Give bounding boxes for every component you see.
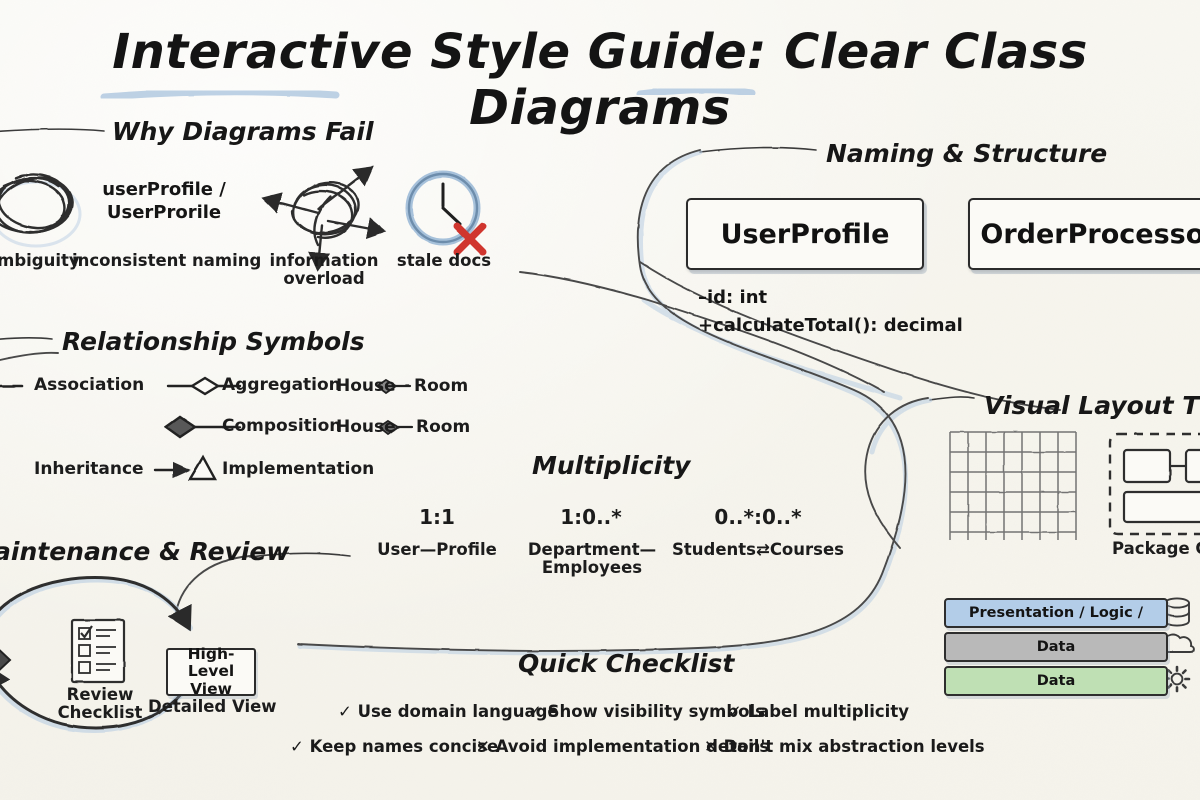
- why-fail-label-2: informationoverload: [258, 252, 390, 289]
- relationship-label-inheritance: Inheritance: [34, 460, 144, 479]
- package-grouping-caption: Package Gro: [1112, 540, 1200, 558]
- why-fail-label-3: stale docs: [388, 252, 500, 270]
- section-header-relationship-symbols: Relationship Symbols: [62, 328, 365, 356]
- naming-sample-line1: userProfile /: [102, 179, 226, 200]
- class-member-field: –id: int: [698, 288, 767, 308]
- layer-bar-data-green[interactable]: Data: [944, 666, 1168, 696]
- multiplicity-ratio-0: 1:1: [378, 506, 496, 528]
- section-header-naming-structure: Naming & Structure: [826, 140, 1107, 168]
- example-house-left: House: [336, 376, 396, 396]
- checklist-text-2: Label multiplicity: [748, 702, 909, 721]
- class-box-orderprocessor[interactable]: OrderProcessor: [968, 198, 1200, 270]
- high-level-view-box[interactable]: High-LevelView: [166, 648, 256, 696]
- section-header-visual-layout-tips: Visual Layout Tips: [984, 392, 1200, 420]
- checklist-item-3[interactable]: ✓ Keep names concise: [290, 738, 498, 756]
- relationship-label-aggregation: Aggregation: [222, 376, 341, 395]
- checklist-mark-5: ✕: [704, 737, 718, 756]
- multiplicity-relation-2: Students⇄Courses: [672, 541, 844, 559]
- checklist-mark-3: ✓: [290, 737, 304, 756]
- checklist-icon: [72, 620, 124, 682]
- multiplicity-ratio-2: 0..*:0..*: [692, 506, 824, 528]
- why-fail-label-1: inconsistent naming: [72, 252, 256, 270]
- layer-bar-presentation[interactable]: Presentation / Logic /: [944, 598, 1168, 628]
- layer-bar-data-green-label: Data: [1037, 673, 1076, 689]
- checklist-text-3: Keep names concise: [310, 737, 499, 756]
- why-fail-label-0: ambiguity: [0, 252, 76, 270]
- class-box-userprofile[interactable]: UserProfile: [686, 198, 924, 270]
- layer-bar-presentation-label: Presentation / Logic /: [969, 605, 1143, 621]
- class-box-userprofile-label: UserProfile: [721, 219, 890, 250]
- naming-sample-line2: UserProrile: [107, 202, 221, 223]
- relationship-example-aggregation-right: Room: [414, 377, 468, 396]
- checklist-item-2[interactable]: ✓ Label multiplicity: [728, 703, 909, 721]
- checklist-item-0[interactable]: ✓ Use domain language: [338, 703, 559, 721]
- checklist-text-5: Don't mix abstraction levels: [724, 737, 985, 756]
- review-checklist-label: ReviewChecklist: [52, 686, 148, 723]
- high-level-view-box-label: High-LevelView: [168, 646, 254, 698]
- relationship-example-aggregation: House: [336, 377, 396, 396]
- checklist-mark-0: ✓: [338, 702, 352, 721]
- relationship-label-implementation: Implementation: [222, 460, 374, 479]
- section-header-why-diagrams-fail: Why Diagrams Fail: [112, 118, 374, 146]
- layer-bar-data-gray[interactable]: Data: [944, 632, 1168, 662]
- relationship-label-composition: Composition: [222, 417, 341, 436]
- relationship-label-association: Association: [34, 376, 144, 395]
- checklist-mark-1: ✓: [528, 702, 542, 721]
- section-header-quick-checklist: Quick Checklist: [518, 650, 734, 678]
- class-box-orderprocessor-label: OrderProcessor: [980, 219, 1200, 250]
- checklist-item-5[interactable]: ✕ Don't mix abstraction levels: [704, 738, 985, 756]
- relationship-example-composition: House: [336, 418, 396, 437]
- multiplicity-relation-1: Department—Employees: [526, 541, 658, 578]
- class-member-method: +calculateTotal(): decimal: [698, 316, 963, 336]
- relationship-example-composition-right: Room: [416, 418, 470, 437]
- section-header-multiplicity: Multiplicity: [532, 452, 690, 480]
- inconsistent-naming-sample: userProfile /UserProrile: [100, 178, 228, 225]
- checklist-mark-4: ✕: [476, 737, 490, 756]
- multiplicity-relation-0: User—Profile: [374, 541, 500, 559]
- multiplicity-ratio-1: 1:0..*: [532, 506, 650, 528]
- layer-bar-data-gray-label: Data: [1037, 639, 1076, 655]
- checklist-mark-2: ✓: [728, 702, 742, 721]
- detailed-view-label: Detailed View: [148, 698, 272, 716]
- section-header-maintenance-review: aintenance & Review: [0, 538, 289, 566]
